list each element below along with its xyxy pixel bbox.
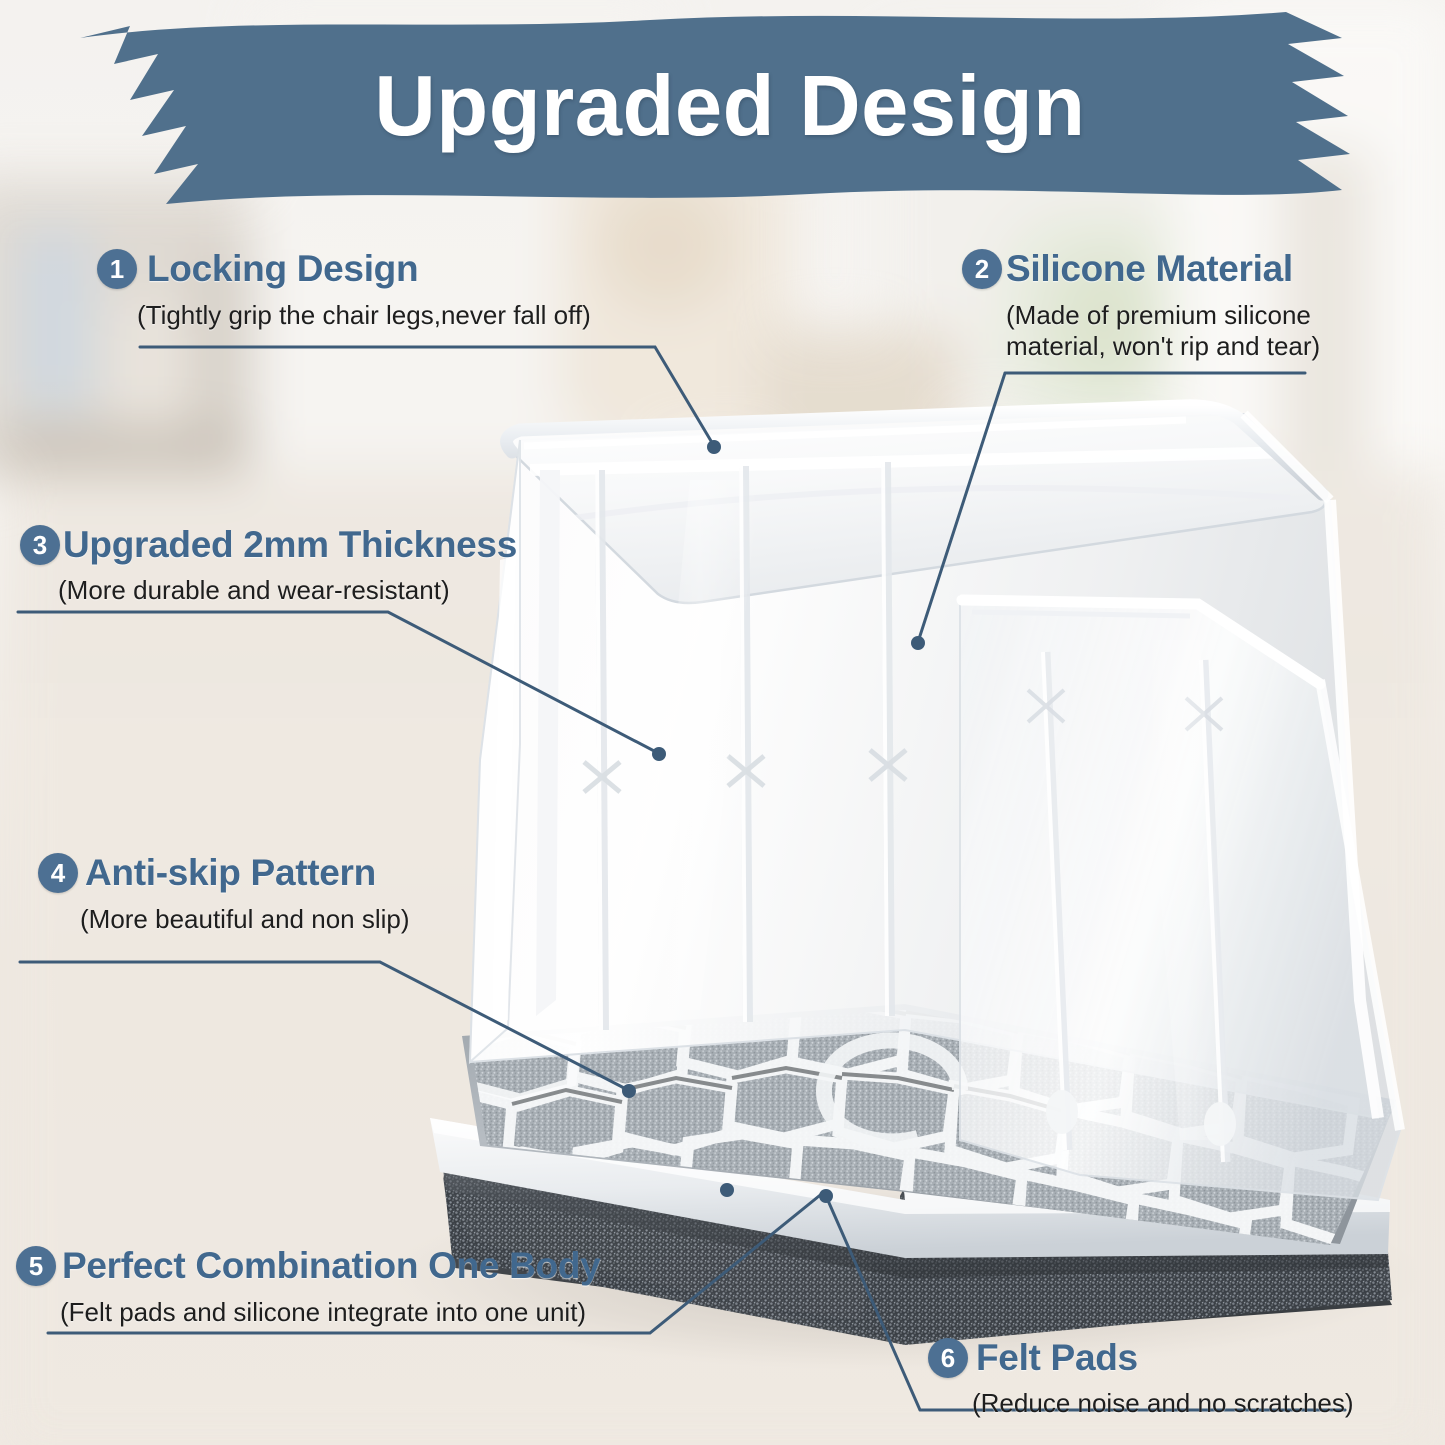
feature-subtitle-6: (Reduce noise and no scratches) xyxy=(972,1388,1354,1419)
badge-number-4: 4 xyxy=(38,853,78,893)
banner-title: Upgraded Design xyxy=(70,8,1390,218)
badge-number-5: 5 xyxy=(16,1246,56,1286)
callout-anti-skip-pattern: 4 Anti-skip Pattern (More beautiful and … xyxy=(38,852,410,935)
banner: Upgraded Design xyxy=(70,8,1390,218)
feature-title-4: Anti-skip Pattern xyxy=(85,852,376,894)
callout-locking-design: 1 Locking Design (Tightly grip the chair… xyxy=(97,248,591,331)
feature-subtitle-2-line1: (Made of premium silicone xyxy=(1006,300,1320,331)
callout-silicone-material: 2 Silicone Material (Made of premium sil… xyxy=(962,248,1320,361)
callout-felt-pads: 6 Felt Pads (Reduce noise and no scratch… xyxy=(928,1337,1354,1419)
feature-subtitle-3: (More durable and wear-resistant) xyxy=(58,575,517,606)
badge-number-1: 1 xyxy=(97,249,137,289)
badge-number-6: 6 xyxy=(928,1338,968,1378)
feature-subtitle-5: (Felt pads and silicone integrate into o… xyxy=(60,1297,600,1328)
feature-title-2: Silicone Material xyxy=(1006,248,1293,290)
infographic-canvas: Upgraded Design 1 xyxy=(0,0,1445,1445)
feature-subtitle-4: (More beautiful and non slip) xyxy=(80,904,410,935)
feature-subtitle-1: (Tightly grip the chair legs,never fall … xyxy=(137,300,591,331)
callout-perfect-combination: 5 Perfect Combination One Body (Felt pad… xyxy=(16,1245,600,1328)
feature-title-5: Perfect Combination One Body xyxy=(62,1245,600,1287)
badge-number-2: 2 xyxy=(962,249,1002,289)
feature-title-3: Upgraded 2mm Thickness xyxy=(63,524,517,566)
feature-title-6: Felt Pads xyxy=(976,1337,1138,1379)
badge-number-3: 3 xyxy=(20,525,60,565)
feature-subtitle-2-line2: material, won't rip and tear) xyxy=(1006,331,1320,362)
feature-title-1: Locking Design xyxy=(147,248,418,290)
callout-upgraded-thickness: 3 Upgraded 2mm Thickness (More durable a… xyxy=(20,524,517,606)
